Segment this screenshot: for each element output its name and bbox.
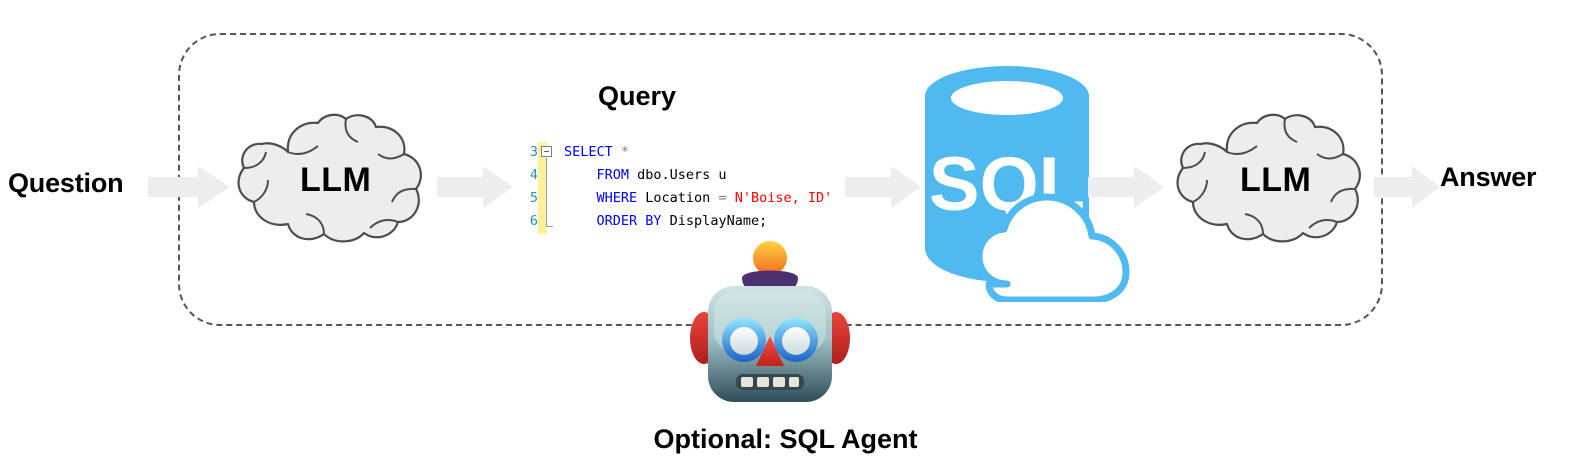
code-gutter-space [538,164,564,187]
code-line: 4 FROM dbo.Users u [520,164,832,187]
llm-cloud-first-label: LLM [300,161,371,200]
code-token-op: = [718,190,726,206]
code-gutter-space [538,187,564,210]
code-token-pl [727,190,735,206]
llm-cloud-second-label: LLM [1240,161,1311,200]
code-collapse-toggle-icon[interactable] [541,146,552,157]
code-token-op: * [621,144,629,160]
code-line-number: 3 [520,141,538,164]
arrow-sql-to-llm [1088,166,1164,208]
diagram-canvas: Question LLM Query 3 SELECT *4 FROM dbo.… [0,0,1571,470]
code-lines: 3 SELECT *4 FROM dbo.Users u5 WHERE Loca… [520,141,832,233]
code-token-pl: DisplayName; [662,213,768,229]
arrow-llm-to-query [437,166,513,208]
code-region-foot [546,226,553,227]
code-token-kw: ORDER BY [597,213,662,229]
robot-agent-icon [688,238,852,414]
code-line: 6 ORDER BY DisplayName; [520,210,832,233]
code-token-kw: SELECT [564,144,613,160]
code-line: 3 SELECT * [520,141,832,164]
code-region-line [546,158,547,226]
code-token-pl [613,144,621,160]
code-token-pl [564,167,597,183]
code-line-number: 6 [520,210,538,233]
code-gutter-space [538,210,564,233]
code-token-kw: WHERE [597,190,638,206]
query-title: Query [598,81,676,112]
code-token-str: N'Boise, ID' [735,190,833,206]
question-label: Question [8,168,123,199]
sql-code-block: 3 SELECT *4 FROM dbo.Users u5 WHERE Loca… [520,141,840,237]
code-token-pl: dbo.Users u [629,167,727,183]
code-line-number: 5 [520,187,538,210]
arrow-llm-to-answer [1374,166,1440,208]
agent-caption: Optional: SQL Agent [0,424,1571,455]
arrow-question-to-llm [148,166,230,208]
code-token-kw: FROM [597,167,630,183]
code-line-number: 4 [520,164,538,187]
code-line: 5 WHERE Location = N'Boise, ID' [520,187,832,210]
code-token-pl: Location [637,190,718,206]
answer-label: Answer [1440,162,1536,193]
code-token-pl [564,213,597,229]
code-token-pl [564,190,597,206]
